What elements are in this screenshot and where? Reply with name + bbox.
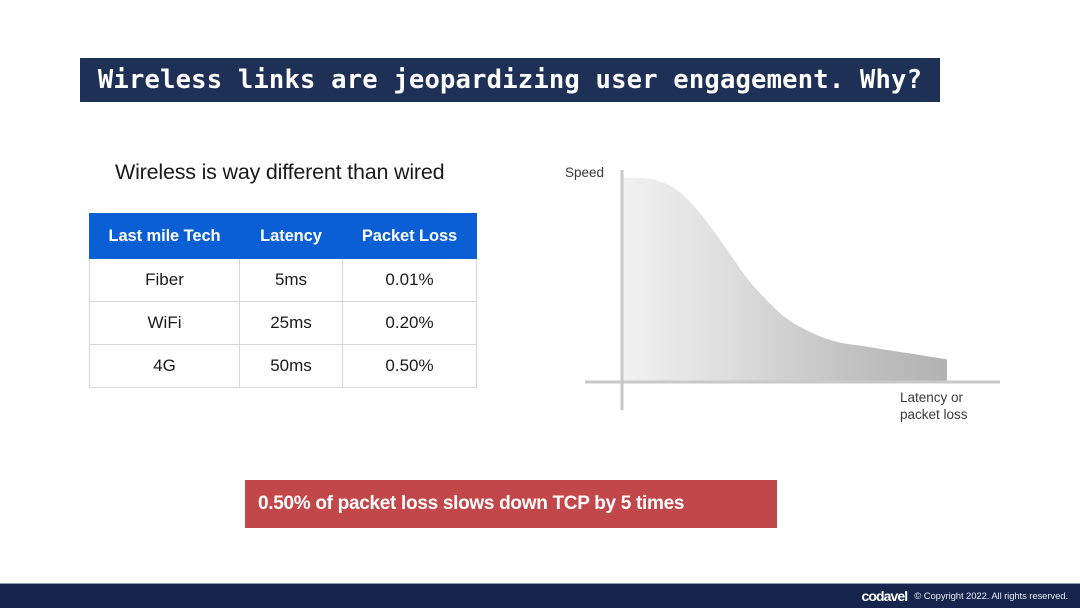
cell-packet-loss: 0.50% — [343, 345, 477, 388]
table-row: Fiber 5ms 0.01% — [90, 259, 477, 302]
column-header-latency: Latency — [240, 214, 343, 259]
chart-x-axis-label: Latency or packet loss — [900, 389, 968, 423]
callout-text: 0.50% of packet loss slows down TCP by 5… — [258, 493, 684, 515]
speed-decay-chart: Speed Latency or packet loss — [555, 160, 1015, 430]
section-subtitle: Wireless is way different than wired — [115, 160, 444, 185]
last-mile-tech-table: Last mile Tech Latency Packet Loss Fiber… — [89, 213, 477, 388]
cell-tech: Fiber — [90, 259, 240, 302]
slide-footer: codavel © Copyright 2022. All rights res… — [0, 583, 1080, 608]
column-header-packet-loss: Packet Loss — [343, 214, 477, 259]
chart-x-axis-label-line1: Latency or — [900, 389, 968, 406]
cell-packet-loss: 0.20% — [343, 302, 477, 345]
chart-x-axis-label-line2: packet loss — [900, 406, 968, 423]
chart-y-axis-label: Speed — [565, 165, 604, 180]
cell-latency: 50ms — [240, 345, 343, 388]
cell-latency: 25ms — [240, 302, 343, 345]
table-row: WiFi 25ms 0.20% — [90, 302, 477, 345]
cell-tech: 4G — [90, 345, 240, 388]
cell-latency: 5ms — [240, 259, 343, 302]
copyright-text: © Copyright 2022. All rights reserved. — [914, 591, 1068, 602]
callout-banner: 0.50% of packet loss slows down TCP by 5… — [245, 480, 777, 528]
slide-title: Wireless links are jeopardizing user eng… — [98, 65, 922, 95]
column-header-tech: Last mile Tech — [90, 214, 240, 259]
slide-canvas: Wireless links are jeopardizing user eng… — [0, 0, 1080, 608]
slide-title-bar: Wireless links are jeopardizing user eng… — [80, 58, 940, 102]
cell-tech: WiFi — [90, 302, 240, 345]
table-row: 4G 50ms 0.50% — [90, 345, 477, 388]
chart-area-series — [622, 178, 947, 382]
table-header-row: Last mile Tech Latency Packet Loss — [90, 214, 477, 259]
codavel-logo: codavel — [861, 588, 907, 604]
cell-packet-loss: 0.01% — [343, 259, 477, 302]
